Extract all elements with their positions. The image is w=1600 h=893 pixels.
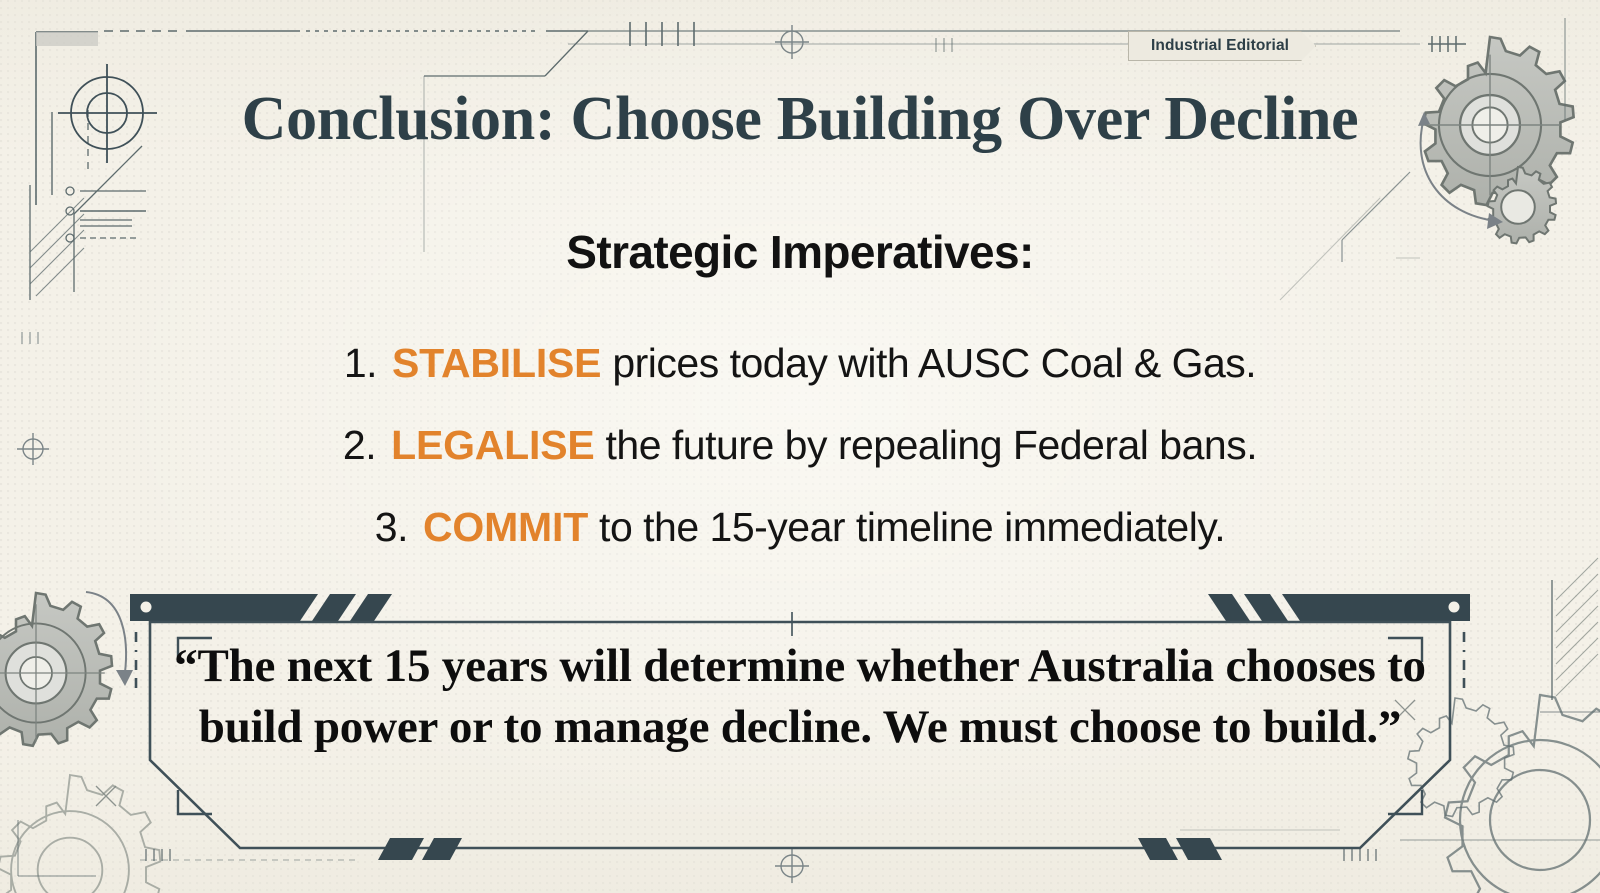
list-item-keyword: STABILISE (392, 322, 601, 404)
list-item-text: prices today with AUSC Coal & Gas. (612, 322, 1256, 404)
list-item-number: 1. (344, 322, 377, 404)
quote-text: “The next 15 years will determine whethe… (162, 636, 1438, 758)
list-item-keyword: COMMIT (423, 486, 588, 568)
page-title: Conclusion: Choose Building Over Decline (0, 82, 1600, 156)
imperatives-list: 1. STABILISE prices today with AUSC Coal… (0, 322, 1600, 568)
quote-line-1: “The next 15 years will determine whethe… (174, 640, 1214, 692)
quote-line-3: We must choose to build.” (883, 701, 1402, 753)
list-item-keyword: LEGALISE (391, 404, 594, 486)
list-item: 2. LEGALISE the future by repealing Fede… (0, 404, 1600, 486)
list-item-number: 3. (375, 486, 408, 568)
category-badge: Industrial Editorial (1128, 31, 1316, 61)
slide-root: Industrial Editorial Conclusion: Choose … (0, 0, 1600, 893)
list-item-text: the future by repealing Federal bans. (606, 404, 1258, 486)
list-item-text: to the 15-year timeline immediately. (599, 486, 1225, 568)
slide-content: Industrial Editorial Conclusion: Choose … (0, 0, 1600, 893)
quote-panel: “The next 15 years will determine whethe… (120, 588, 1480, 850)
list-item: 1. STABILISE prices today with AUSC Coal… (0, 322, 1600, 404)
list-item: 3. COMMIT to the 15-year timeline immedi… (0, 486, 1600, 568)
list-item-number: 2. (343, 404, 376, 486)
section-subheading: Strategic Imperatives: (0, 224, 1600, 280)
